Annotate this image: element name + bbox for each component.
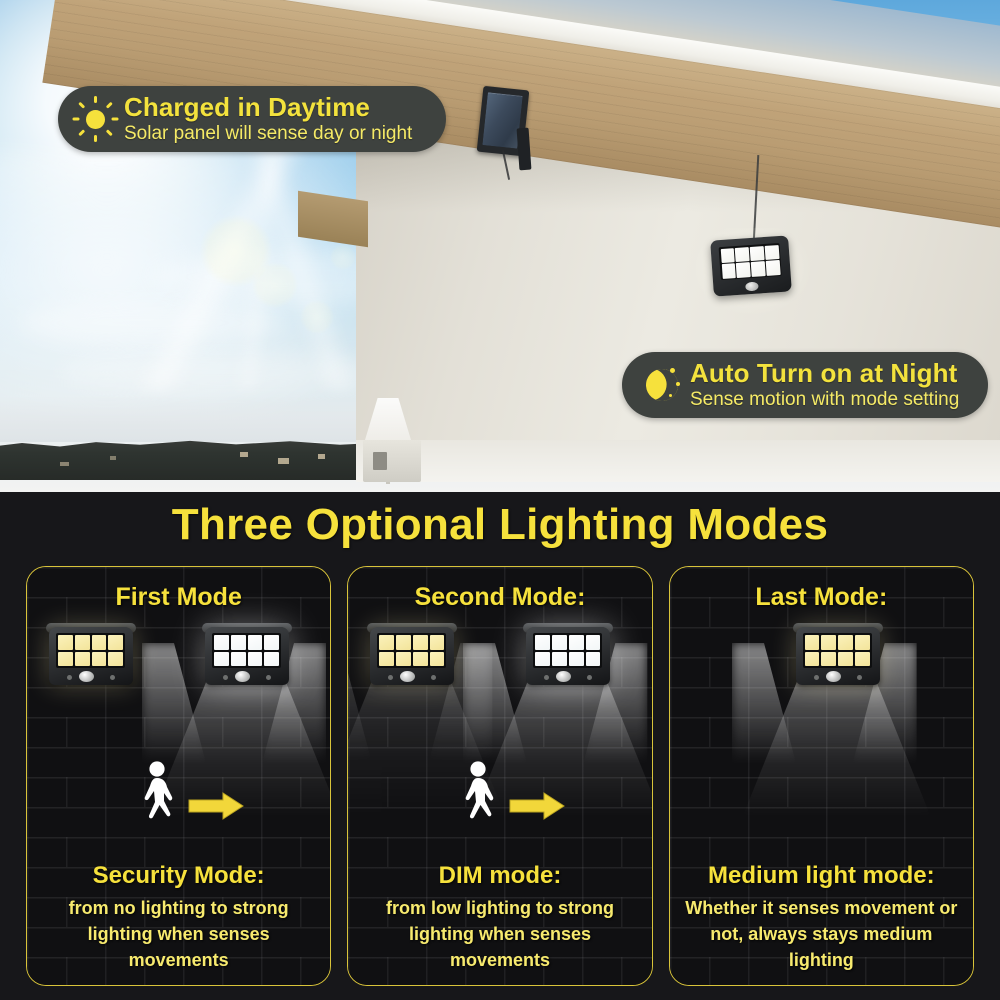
- light-beam-edge: [347, 643, 372, 763]
- badge-auto-turn-on-at-night: Auto Turn on at Night Sense motion with …: [622, 352, 988, 418]
- card-description: Medium light mode: Whether it senses mov…: [680, 862, 963, 973]
- led-flood-lamp: [710, 235, 792, 296]
- right-arrow-icon: [187, 791, 245, 826]
- wall-box-vent: [373, 452, 387, 470]
- light-beam-edge: [142, 643, 206, 763]
- mode-card-second[interactable]: Second Mode:: [347, 566, 652, 986]
- hero-photo: Charged in Daytime Solar panel will sens…: [0, 0, 1000, 492]
- badge-charged-in-daytime: Charged in Daytime Solar panel will sens…: [58, 86, 446, 152]
- moon-icon: [636, 360, 686, 410]
- motion-sensor-icon: [235, 671, 250, 682]
- badge-title: Auto Turn on at Night: [690, 360, 959, 388]
- lamp-led-array: [377, 633, 446, 668]
- description-body: from no lighting to strong lighting when…: [37, 895, 320, 973]
- description-title: DIM mode:: [358, 862, 641, 890]
- card-illustration: [670, 621, 973, 837]
- card-illustration: [27, 621, 330, 837]
- distant-building: [110, 456, 116, 460]
- distant-building: [278, 458, 289, 464]
- description-body: Whether it senses movement or not, alway…: [680, 895, 963, 973]
- lamp-led-array: [533, 633, 602, 668]
- description-title: Security Mode:: [37, 862, 320, 890]
- lens-flare: [300, 300, 334, 334]
- motion-sensor-icon: [79, 671, 94, 682]
- mode-card-first[interactable]: First Mode: [26, 566, 331, 986]
- lens-flare: [330, 244, 356, 270]
- card-header: First Mode: [27, 583, 330, 612]
- led-lamp-on-medium: [796, 627, 880, 685]
- walking-person-icon: [458, 761, 504, 823]
- card-description: DIM mode: from low lighting to strong li…: [358, 862, 641, 973]
- led-lamp-on-strong: [526, 627, 610, 685]
- cloud: [20, 300, 280, 346]
- badge-subtitle: Solar panel will sense day or night: [124, 124, 412, 144]
- lamp-led-array: [56, 633, 125, 668]
- badge-subtitle: Sense motion with mode setting: [690, 390, 959, 410]
- description-body: from low lighting to strong lighting whe…: [358, 895, 641, 973]
- description-title: Medium light mode:: [680, 862, 963, 890]
- card-description: Security Mode: from no lighting to stron…: [37, 862, 320, 973]
- right-arrow-icon: [508, 791, 566, 826]
- light-beam-edge: [463, 643, 527, 763]
- card-illustration: [348, 621, 651, 837]
- distant-building: [240, 452, 248, 457]
- lamp-led-array: [719, 243, 782, 280]
- led-lamp-on-low: [370, 627, 454, 685]
- led-lamp-off: [49, 627, 133, 685]
- badge-title: Charged in Daytime: [124, 94, 412, 122]
- motion-sensor-icon: [826, 671, 841, 682]
- sun-icon: [70, 94, 120, 144]
- card-header: Last Mode:: [670, 583, 973, 612]
- walking-person-icon: [137, 761, 183, 823]
- mode-cards: First Mode: [26, 566, 974, 986]
- wall-box: [363, 440, 421, 482]
- distant-building: [60, 462, 69, 466]
- lamp-led-array: [212, 633, 281, 668]
- wall-base: [356, 440, 1000, 482]
- lighting-modes-section: Three Optional Lighting Modes First Mode: [0, 492, 1000, 1000]
- card-header: Second Mode:: [348, 583, 651, 612]
- lamp-led-array: [803, 633, 872, 668]
- led-lamp-on-strong: [205, 627, 289, 685]
- light-beam-edge: [732, 643, 796, 763]
- product-infographic: Charged in Daytime Solar panel will sens…: [0, 0, 1000, 1000]
- section-title: Three Optional Lighting Modes: [0, 500, 1000, 550]
- mode-card-last[interactable]: Last Mode: Medium light mode: Whether it…: [669, 566, 974, 986]
- distant-building: [318, 454, 325, 459]
- lens-flare: [252, 262, 298, 308]
- cloud: [60, 352, 390, 392]
